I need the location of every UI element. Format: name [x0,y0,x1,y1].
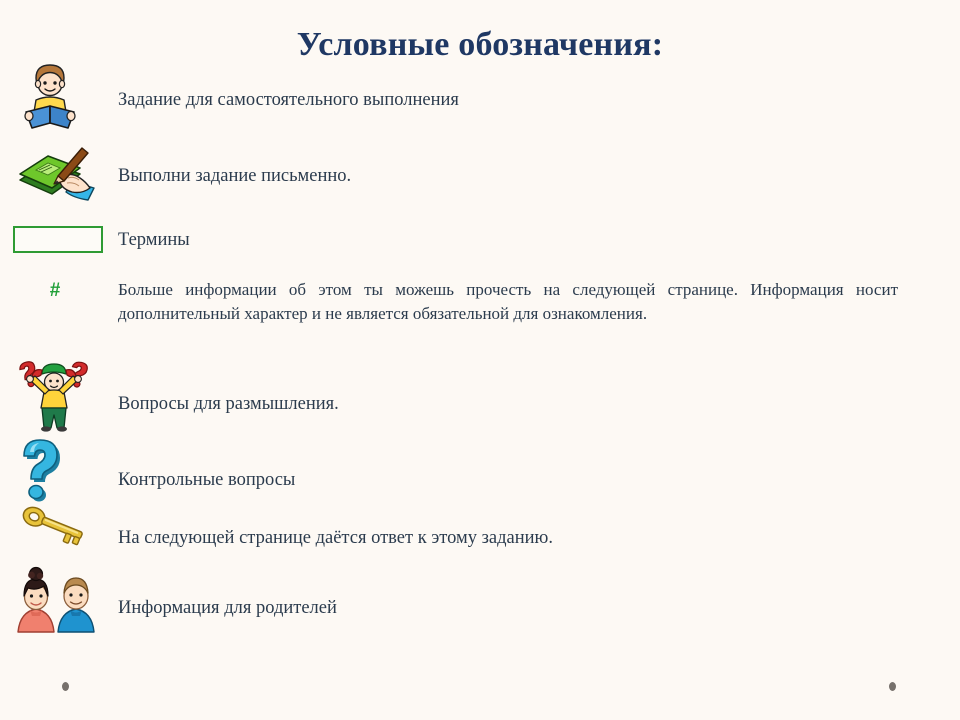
blue-question-mark-icon [14,438,106,504]
legend-label: Больше информации об этом ты можешь проч… [118,278,898,326]
green-rectangle-box-icon [13,226,103,253]
legend-list: Задание для самостоятельного выполнения [0,0,960,720]
parents-couple-icon [14,566,106,632]
legend-label: Термины [118,228,190,252]
legend-label: Вопросы для размышления. [118,392,339,416]
legend-label: На следующей странице даётся ответ к это… [118,526,553,550]
page-dot-left[interactable] [62,682,69,691]
hash-symbol-icon: # [40,280,70,302]
hand-writing-notebook-icon [14,140,106,206]
golden-key-icon [14,506,106,572]
legend-label: Контрольные вопросы [118,468,295,492]
boy-reading-book-icon [14,62,106,128]
page-dot-right[interactable] [889,682,896,691]
jester-with-question-marks-icon [14,358,106,424]
legend-label: Задание для самостоятельного выполнения [118,88,459,112]
slide-canvas: Условные обозначения: [0,0,960,720]
legend-label: Информация для родителей [118,596,337,620]
legend-label: Выполни задание письменно. [118,164,351,188]
